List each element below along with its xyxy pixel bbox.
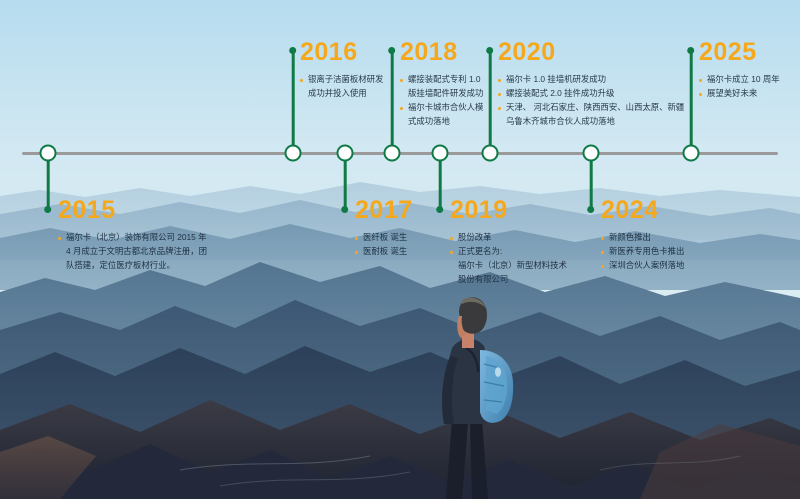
timeline-year-2015: 2015 [58,198,207,223]
timeline-stem-2024 [590,155,593,210]
bullet-dot-icon [450,251,453,254]
bullet-dot-icon [355,237,358,240]
timeline-entry-2025[interactable]: 2025 福尔卡成立 10 周年 展望美好未来 [699,40,780,101]
timeline-stem-2025 [690,50,693,152]
bullet-dot-icon [58,237,61,240]
timeline-year-2019: 2019 [450,198,567,223]
timeline-year-2016: 2016 [300,40,383,65]
timeline-node-2018[interactable] [384,145,401,162]
timeline-stem-2016 [292,50,295,152]
list-item: 新颜色推出 [601,231,684,245]
timeline-entry-2019[interactable]: 2019 股份改革 正式更名为: 福尔卡（北京）新型材料技术 股份有限公司 [450,198,567,286]
timeline-stem-2017 [344,155,347,210]
timeline-entry-2024[interactable]: 2024 新颜色推出 新医养专用色卡推出 深圳合伙人案例落地 [601,198,684,273]
timeline-stem-2015 [47,155,50,210]
list-item: 福尔卡成立 10 周年 [699,73,780,87]
timeline-year-2017: 2017 [355,198,413,223]
timeline-year-2024: 2024 [601,198,684,223]
timeline-bullets-2024: 新颜色推出 新医养专用色卡推出 深圳合伙人案例落地 [601,231,684,273]
timeline-year-2020: 2020 [498,40,684,65]
timeline-stem-2018 [391,50,394,152]
bullet-dot-icon [450,237,453,240]
timeline-year-2018: 2018 [400,40,483,65]
list-item: 福尔卡城市合伙人模 式成功落地 [400,101,483,129]
bullet-dot-icon [498,93,501,96]
list-item: 螺接装配式 2.0 挂件成功升级 [498,87,684,101]
timeline-bullets-2017: 医纤板 诞生 医耐板 诞生 [355,231,413,259]
timeline-entry-2020[interactable]: 2020 福尔卡 1.0 挂墙机研发成功 螺接装配式 2.0 挂件成功升级 天津… [498,40,684,128]
timeline-entry-2018[interactable]: 2018 螺接装配式专利 1.0 版挂墙配件研发成功 福尔卡城市合伙人模 式成功… [400,40,483,128]
timeline-node-2020[interactable] [482,145,499,162]
bullet-dot-icon [699,93,702,96]
bullet-dot-icon [400,107,403,110]
timeline-infographic: 2015 福尔卡（北京）装饰有限公司 2015 年 4 月成立于文明古都北京品牌… [0,0,800,499]
timeline-node-2019[interactable] [432,145,449,162]
timeline-node-2017[interactable] [337,145,354,162]
timeline-node-2024[interactable] [583,145,600,162]
list-item: 展望美好未来 [699,87,780,101]
list-item: 深圳合伙人案例落地 [601,259,684,273]
bullet-dot-icon [601,265,604,268]
timeline-entry-2017[interactable]: 2017 医纤板 诞生 医耐板 诞生 [355,198,413,259]
bullet-dot-icon [400,79,403,82]
timeline-node-2015[interactable] [40,145,57,162]
timeline-node-2025[interactable] [683,145,700,162]
timeline-bullets-2015: 福尔卡（北京）装饰有限公司 2015 年 4 月成立于文明古都北京品牌注册，团 … [58,231,207,273]
list-item: 新医养专用色卡推出 [601,245,684,259]
timeline-bullets-2019: 股份改革 正式更名为: 福尔卡（北京）新型材料技术 股份有限公司 [450,231,567,286]
bullet-dot-icon [355,251,358,254]
bullet-dot-icon [601,251,604,254]
timeline-bullets-2016: 银离子洁菌板材研发 成功并投入使用 [300,73,383,101]
timeline-stem-2019 [439,155,442,210]
list-item: 医纤板 诞生 [355,231,413,245]
list-item: 银离子洁菌板材研发 成功并投入使用 [300,73,383,101]
list-item: 正式更名为: 福尔卡（北京）新型材料技术 股份有限公司 [450,245,567,287]
list-item: 螺接装配式专利 1.0 版挂墙配件研发成功 [400,73,483,101]
list-item: 股份改革 [450,231,567,245]
timeline-year-2025: 2025 [699,40,780,65]
timeline-bullets-2025: 福尔卡成立 10 周年 展望美好未来 [699,73,780,101]
bullet-dot-icon [300,79,303,82]
bullet-dot-icon [601,237,604,240]
timeline-bullets-2018: 螺接装配式专利 1.0 版挂墙配件研发成功 福尔卡城市合伙人模 式成功落地 [400,73,483,128]
bullet-dot-icon [699,79,702,82]
list-item: 福尔卡 1.0 挂墙机研发成功 [498,73,684,87]
timeline-stem-2020 [489,50,492,152]
timeline-bullets-2020: 福尔卡 1.0 挂墙机研发成功 螺接装配式 2.0 挂件成功升级 天津、 河北石… [498,73,684,128]
list-item: 福尔卡（北京）装饰有限公司 2015 年 4 月成立于文明古都北京品牌注册，团 … [58,231,207,273]
timeline-node-2016[interactable] [285,145,302,162]
timeline-entry-2016[interactable]: 2016 银离子洁菌板材研发 成功并投入使用 [300,40,383,101]
list-item: 天津、 河北石家庄、陕西西安、山西太原、新疆 乌鲁木齐城市合伙人成功落地 [498,101,684,129]
timeline-entry-2015[interactable]: 2015 福尔卡（北京）装饰有限公司 2015 年 4 月成立于文明古都北京品牌… [58,198,207,273]
bullet-dot-icon [498,107,501,110]
bullet-dot-icon [498,79,501,82]
list-item: 医耐板 诞生 [355,245,413,259]
